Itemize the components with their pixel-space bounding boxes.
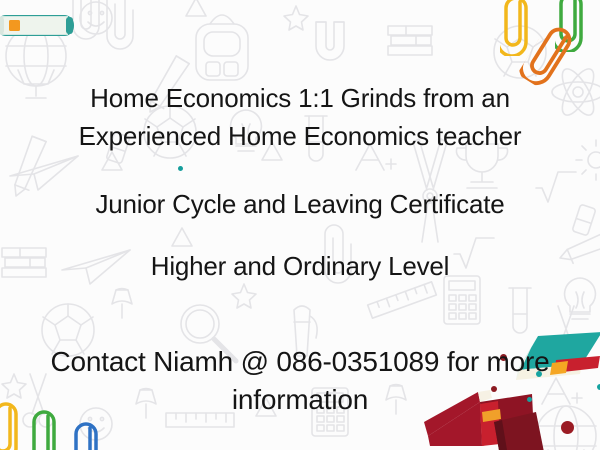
poster-contact-line: Contact Niamh @ 086-0351089 for more inf… <box>0 343 600 419</box>
poster-canvas: Home Economics 1:1 Grinds from an Experi… <box>0 0 600 450</box>
poster-subject-line: Junior Cycle and Leaving Certificate <box>0 187 600 221</box>
poster-text-block: Home Economics 1:1 Grinds from an Experi… <box>0 0 600 450</box>
poster-level-line: Higher and Ordinary Level <box>0 249 600 283</box>
poster-headline: Home Economics 1:1 Grinds from an Experi… <box>0 79 600 155</box>
